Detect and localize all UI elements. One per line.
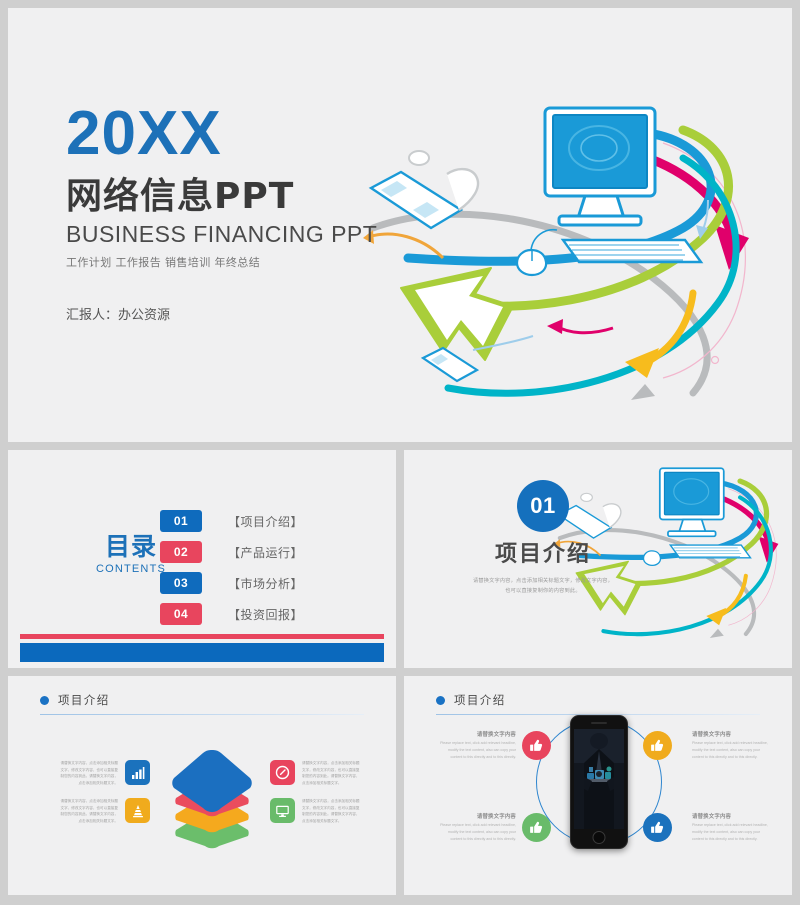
toc-red-stripe [20,634,384,639]
caption-block: 请替换文字内容 Please replace text, click add r… [692,812,768,842]
thumbs-up-icon[interactable] [643,813,672,842]
mouse-icon [517,230,557,275]
caption-heading: 请替换文字内容 [440,730,516,738]
caption-body: Please replace text, click add relevant … [440,822,516,842]
year-title: 20XX [66,103,377,165]
caption-body: Please replace text, click add relevant … [692,740,768,760]
feature-text: 请替换文字内容，点击添加相关标题文字，修改文字内容，也可以直接复制您的内容到此。… [58,798,118,825]
section-title: 项目介绍 [458,544,628,566]
mouse-icon-small [644,551,661,566]
phone-speaker [591,722,607,724]
section-divider-slide[interactable]: 01 项目介绍 请替换文字内容，点击添加相关标题文字，修改文字内容， 也可以直接… [404,450,792,668]
bullet-dot-icon [40,696,49,705]
list-item[interactable]: 01 【项目介绍】 [160,510,303,532]
traffic-cone-icon [125,798,150,823]
deck-row-hero: 20XX 网络信息PPT BUSINESS FINANCING PPT 工作计划… [8,8,792,442]
content-slide-layers[interactable]: 项目介绍 请替换文字内容，点击添加相关标题文字，修改文字内容，也可以直接复制您的… [8,676,396,895]
slide-deck: 20XX 网络信息PPT BUSINESS FINANCING PPT 工作计划… [0,0,800,905]
monitor-icon [270,798,295,823]
feature-item[interactable]: 请替换文字内容，点击添加相关标题文字，修改文字内容，也可以直接复制您的内容到此。… [58,760,150,787]
slide-header: 项目介绍 [40,692,364,715]
list-item[interactable]: 04 【投资回报】 [160,603,303,625]
list-item[interactable]: 03 【市场分析】 [160,572,303,594]
slide-header-title: 项目介绍 [58,692,110,708]
deck-row-bottom: 项目介绍 请替换文字内容，点击添加相关标题文字，修改文字内容，也可以直接复制您的… [8,676,792,895]
stacked-layers-graphic [160,746,264,850]
thumbs-up-icon[interactable] [522,813,551,842]
compass-icon [270,760,295,785]
usb-connector-icon [371,151,478,228]
chinese-title: 网络信息PPT [66,179,377,215]
monitor-icon-small [660,468,724,536]
section-number-badge: 01 [517,480,569,532]
toc-number-badge: 04 [160,603,202,625]
thumbs-up-icon[interactable] [522,731,551,760]
english-title: BUSINESS FINANCING PPT [66,223,377,246]
bullet-dot-icon [436,696,445,705]
toc-item-label: 【项目介绍】 [228,513,303,530]
feature-item[interactable]: 请替换文字内容，点击添加相关标题文字，修改文字内容，也可以直接复制您的内容到此。… [58,798,150,825]
section-subtitle-line-2: 也可以直接复制你的内容到此。 [458,587,628,597]
deck-row-middle: 目录 CONTENTS 01 【项目介绍】 02 【产品运行】 03 【市场分析… [8,450,792,668]
section-center-block: 01 项目介绍 请替换文字内容，点击添加相关标题文字，修改文字内容， 也可以直接… [458,480,628,597]
keyboard-icon-small [670,545,750,558]
keyboard-icon [563,240,701,262]
thumbs-up-icon[interactable] [643,731,672,760]
feature-text: 请替换文字内容，点击添加相关标题文字，修改文字内容，也可以直接复制您的内容到此。… [58,760,118,787]
header-divider [40,714,364,715]
caption-block: 请替换文字内容 Please replace text, click add r… [440,812,516,842]
network-illustration [363,88,792,428]
contents-slide[interactable]: 目录 CONTENTS 01 【项目介绍】 02 【产品运行】 03 【市场分析… [8,450,396,668]
slide-header-title: 项目介绍 [454,692,506,708]
section-subtitle: 请替换文字内容，点击添加相关标题文字，修改文字内容， 也可以直接复制你的内容到此… [458,577,628,597]
feature-item[interactable]: 请替换文字内容，点击添加相关标题文字，修改文字内容，也可以直接复制您的内容到此。… [270,798,362,825]
monitor-icon [545,108,655,225]
toc-blue-bar [20,643,384,662]
toc-number-badge: 01 [160,510,202,532]
toc-item-label: 【投资回报】 [228,606,303,623]
toc-number-badge: 03 [160,572,202,594]
toc-item-label: 【产品运行】 [228,544,303,561]
caption-block: 请替换文字内容 Please replace text, click add r… [440,730,516,760]
contents-list: 01 【项目介绍】 02 【产品运行】 03 【市场分析】 04 【投资回报】 [160,510,303,634]
bar-chart-icon [125,760,150,785]
caption-body: Please replace text, click add relevant … [440,740,516,760]
smartphone-image [570,715,628,849]
network-illustration-svg [363,88,792,428]
stacked-layers-svg [160,746,264,850]
reporter-line: 汇报人：办公资源 [66,304,377,323]
section-subtitle-line-1: 请替换文字内容，点击添加相关标题文字，修改文字内容， [458,577,628,587]
title-slide[interactable]: 20XX 网络信息PPT BUSINESS FINANCING PPT 工作计划… [8,8,792,442]
slide-header: 项目介绍 [436,692,760,715]
content-slide-phone[interactable]: 项目介绍 [404,676,792,895]
caption-block: 请替换文字内容 Please replace text, click add r… [692,730,768,760]
feature-text: 请替换文字内容，点击添加相关标题文字，修改文字内容，也可以直接复制您的内容到此。… [302,760,362,787]
keyword-line: 工作计划 工作报告 销售培训 年终总结 [66,254,377,270]
caption-heading: 请替换文字内容 [692,730,768,738]
caption-body: Please replace text, click add relevant … [692,822,768,842]
list-item[interactable]: 02 【产品运行】 [160,541,303,563]
caption-heading: 请替换文字内容 [440,812,516,820]
caption-heading: 请替换文字内容 [692,812,768,820]
usb-connector-small-icon [423,348,477,381]
phone-diagram [526,714,670,864]
feature-text: 请替换文字内容，点击添加相关标题文字，修改文字内容，也可以直接复制您的内容到此。… [302,798,362,825]
phone-home-button [593,831,606,844]
feature-item[interactable]: 请替换文字内容，点击添加相关标题文字，修改文字内容，也可以直接复制您的内容到此。… [270,760,362,787]
title-text-block: 20XX 网络信息PPT BUSINESS FINANCING PPT 工作计划… [66,103,377,323]
toc-number-badge: 02 [160,541,202,563]
phone-screen [574,729,624,829]
businessman-photo [574,729,624,829]
toc-item-label: 【市场分析】 [228,575,303,592]
